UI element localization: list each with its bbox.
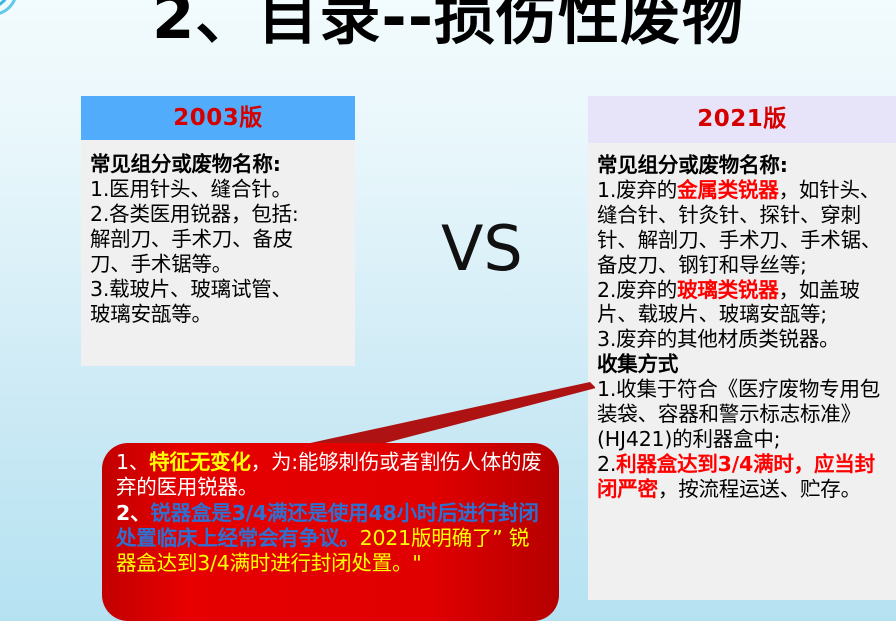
panel-2003-header: 2003版: [81, 96, 355, 140]
panel-2021-body: 常见组分或废物名称: 1.废弃的金属类锐器，如针头、缝合针、针灸针、探针、穿刺针…: [588, 143, 896, 600]
collection-method-label: 收集方式: [597, 352, 890, 377]
list-item-metal-sharps: 1.废弃的金属类锐器，如针头、缝合针、针灸针、探针、穿刺针、解剖刀、手术刀、手术…: [597, 178, 890, 278]
list-item: 2.各类医用锐器，包括:: [90, 202, 346, 227]
slide-canvas: 2、目录--损伤性废物 2003版 常见组分或废物名称: 1.医用针头、缝合针。…: [0, 0, 896, 621]
list-item: 1.医用针头、缝合针。: [90, 177, 346, 202]
collection-item-1: 1.收集于符合《医疗废物专用包装袋、容器和警示标志标准》(HJ421)的利器盒中…: [597, 377, 890, 452]
callout-point-2: 2、锐器盒是3/4满还是使用48小时后进行封闭处置临床上经常会有争议。2021版…: [116, 501, 547, 577]
list-item: 玻璃安瓿等。: [90, 302, 346, 327]
panel-2021: 2021版 常见组分或废物名称: 1.废弃的金属类锐器，如针头、缝合针、针灸针、…: [588, 96, 896, 600]
panel-2003: 2003版 常见组分或废物名称: 1.医用针头、缝合针。 2.各类医用锐器，包括…: [81, 96, 355, 366]
list-item-glass-sharps: 2.废弃的玻璃类锐器，如盖玻片、载玻片、玻璃安瓿等;: [597, 278, 890, 328]
item2-pre: 2.废弃的: [597, 278, 677, 302]
list-item: 解剖刀、手术刀、备皮: [90, 227, 346, 252]
list-item: 3.载玻片、玻璃试管、: [90, 277, 346, 302]
panel-2003-body: 常见组分或废物名称: 1.医用针头、缝合针。 2.各类医用锐器，包括: 解剖刀、…: [81, 140, 355, 366]
item2-highlight: 玻璃类锐器: [677, 278, 779, 302]
list-item-other-sharps: 3.废弃的其他材质类锐器。: [597, 327, 890, 352]
panel-2021-header: 2021版: [588, 96, 896, 143]
list-item: 刀、手术锯等。: [90, 252, 346, 277]
collection-item-2: 2.利器盒达到3/4满时，应当封闭严密，按流程运送、贮存。: [597, 452, 890, 502]
callout-p1-number: 1、: [116, 450, 149, 474]
callout-p2-number: 2、: [116, 501, 150, 525]
callout-p1-highlight: 特征无变化: [149, 450, 251, 474]
callout-box: 1、特征无变化，为:能够刺伤或者割伤人体的废弃的医用锐器。 2、锐器盒是3/4满…: [102, 443, 559, 621]
vs-label: VS: [441, 218, 523, 280]
item1-highlight: 金属类锐器: [677, 178, 779, 202]
collect2-pre: 2.: [597, 452, 616, 476]
item1-pre: 1.废弃的: [597, 178, 677, 202]
collect2-post: ，按流程运送、贮存。: [658, 477, 861, 501]
panel-2021-body-label: 常见组分或废物名称:: [597, 153, 890, 178]
callout-point-1: 1、特征无变化，为:能够刺伤或者割伤人体的废弃的医用锐器。: [116, 450, 547, 501]
page-title: 2、目录--损伤性废物: [0, 0, 896, 50]
panel-2003-body-label: 常见组分或废物名称:: [90, 152, 346, 177]
